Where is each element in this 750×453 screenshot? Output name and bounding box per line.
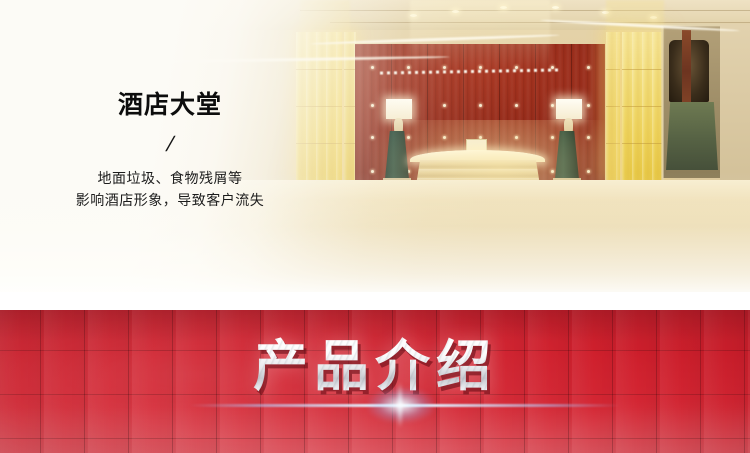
- product-detail-page: 酒店大堂 / 地面垃圾、食物残屑等 影响酒店形象，导致客户流失 产品介绍: [0, 0, 750, 453]
- hero-title: 酒店大堂: [30, 92, 310, 120]
- product-intro-banner: [0, 310, 750, 453]
- marble-wall-right: [720, 24, 750, 182]
- alcove-frame: [661, 24, 726, 183]
- tile-sheen: [0, 310, 750, 453]
- floor-reflection: [300, 0, 350, 72]
- tile-grid-pattern: [0, 310, 750, 453]
- table-lamp-left-shade: [386, 99, 412, 119]
- banner-vignette: [0, 310, 750, 453]
- section-gap: [0, 292, 750, 310]
- table-lamp-right-shade: [556, 99, 582, 119]
- hero-subtitle-line-1: 地面垃圾、食物残屑等: [30, 167, 310, 190]
- hero-caption: 酒店大堂 / 地面垃圾、食物残屑等 影响酒店形象，导致客户流失: [30, 92, 310, 212]
- slash-divider: /: [29, 134, 311, 155]
- floor-reflection: [606, 0, 664, 72]
- ceiling-downlight: [552, 6, 559, 9]
- hero-section: 酒店大堂 / 地面垃圾、食物残屑等 影响酒店形象，导致客户流失: [0, 0, 750, 292]
- hero-subtitle-line-2: 影响酒店形象，导致客户流失: [30, 189, 310, 212]
